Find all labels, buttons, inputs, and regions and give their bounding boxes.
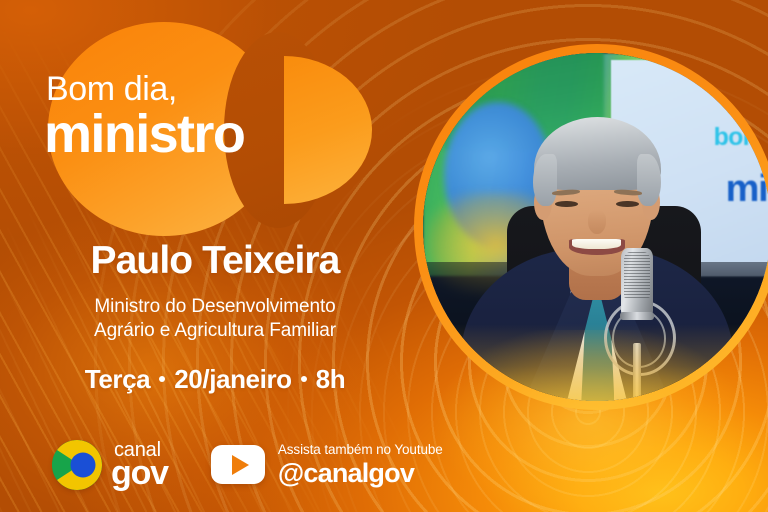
speaker-info: Paulo Teixeira Ministro do Desenvolvimen…	[0, 240, 430, 395]
play-triangle-icon	[232, 455, 249, 475]
separator-dot-icon	[159, 376, 165, 382]
person-figure	[423, 53, 768, 401]
speaker-role: Ministro do Desenvolvimento Agrário e Ag…	[0, 295, 430, 342]
microphone-grille	[624, 252, 650, 298]
person-eye-left	[555, 201, 578, 207]
microphone-ring	[620, 312, 654, 320]
schedule-date: 20/janeiro	[174, 364, 291, 394]
microphone-stem	[633, 343, 641, 401]
schedule: Terça20/janeiro8h	[0, 364, 430, 395]
youtube-cta[interactable]: Assista também no Youtube @canalgov	[211, 443, 443, 488]
youtube-text: Assista também no Youtube @canalgov	[278, 443, 443, 488]
speaker-role-line2: Agrário e Agricultura Familiar	[94, 320, 336, 341]
person-eye-right	[616, 201, 639, 207]
canalgov-word-gov: gov	[111, 459, 168, 488]
schedule-day: Terça	[85, 364, 150, 394]
canalgov-wordmark: canal gov	[111, 442, 168, 488]
portrait-ring: bom mi	[414, 44, 768, 410]
separator-dot-icon	[301, 376, 307, 382]
canalgov-logo[interactable]: canal gov	[52, 440, 168, 490]
youtube-cta-label: Assista também no Youtube	[278, 443, 443, 457]
speaker-role-line1: Ministro do Desenvolvimento	[94, 296, 335, 317]
promo-banner: Bom dia, ministro Paulo Teixeira Ministr…	[0, 0, 768, 512]
guest-portrait: bom mi	[414, 44, 768, 410]
portrait-photo: bom mi	[423, 53, 768, 401]
show-title-line1: Bom dia,	[46, 72, 374, 106]
studio-microphone	[604, 248, 670, 401]
speaker-name: Paulo Teixeira	[0, 240, 430, 281]
youtube-play-icon[interactable]	[211, 445, 265, 484]
show-title-line2: ministro	[44, 107, 374, 161]
person-hair-left	[533, 154, 557, 206]
schedule-time: 8h	[316, 364, 346, 394]
show-title: Bom dia, ministro	[44, 72, 374, 161]
youtube-handle: @canalgov	[278, 459, 443, 487]
person-nose	[588, 210, 605, 234]
canalgov-flag-icon	[52, 440, 102, 490]
footer-bar: canal gov Assista também no Youtube @can…	[52, 440, 443, 490]
